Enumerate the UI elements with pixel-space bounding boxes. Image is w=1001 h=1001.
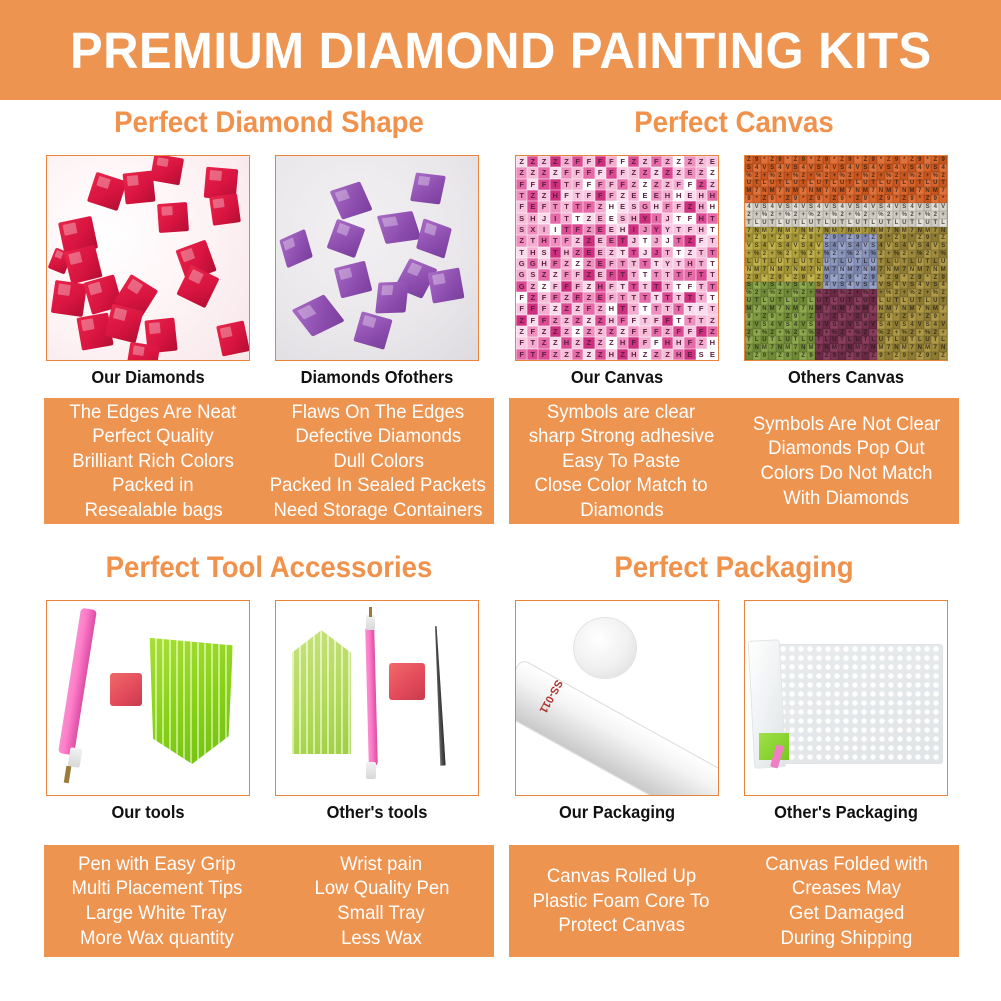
image-card-our-canvas: ZZZZZFFFFFZZFZZZZEZZZZFFFFFFZZZZZEZZFFFT… [515, 155, 719, 361]
drawback-line: Dull Colors [333, 449, 424, 474]
benefit-line: Protect Canvas [558, 913, 685, 938]
caption-other-diamonds: Diamonds Ofothers [281, 367, 473, 388]
pen-needle [64, 766, 72, 784]
image-card-other-diamonds [275, 155, 479, 361]
text-block-canvas: Symbols are clear sharp Strong adhesive … [509, 398, 959, 524]
benefit-line: Easy To Paste [562, 449, 680, 474]
drawback-line: Flaws On The Edges [292, 400, 465, 425]
tube-label: SS-011 [537, 678, 565, 715]
benefit-line: Symbols are clear [547, 400, 695, 425]
pen-needle [369, 607, 372, 617]
small-tray-pen-wax-tweezers-photo [276, 601, 478, 795]
benefit-line: Brilliant Rich Colors [72, 449, 234, 474]
drawback-line: Less Wax [341, 926, 422, 951]
purple-irregular-diamonds-photo [276, 156, 478, 360]
text-block-tool-accessories: Pen with Easy Grip Multi Placement Tips … [44, 845, 494, 957]
caption-other-tools: Other's tools [281, 802, 473, 823]
drawback-line: Colors Do Not Match [761, 461, 933, 486]
drawback-line: Canvas Folded with [765, 852, 928, 877]
caption-other-canvas: Others Canvas [750, 367, 942, 388]
benefit-line: Large White Tray [86, 901, 227, 926]
large-green-tray [148, 638, 233, 764]
pen-tip [366, 615, 375, 631]
drawback-line: Diamonds Pop Out [768, 436, 925, 461]
benefit-line: Multi Placement Tips [71, 876, 242, 901]
drawback-line: Wrist pain [340, 852, 422, 877]
drawback-line: Get Damaged [789, 901, 904, 926]
section-heading-diamond-shape: Perfect Diamond Shape [62, 106, 476, 140]
section-heading-canvas: Perfect Canvas [527, 106, 941, 140]
tray-grooves [292, 630, 351, 754]
pen-cap [366, 762, 376, 779]
page-title: PREMIUM DIAMOND PAINTING KITS [70, 21, 932, 80]
rolled-canvas-tube-photo: SS-011 [516, 601, 718, 795]
section-heading-packaging: Perfect Packaging [527, 551, 941, 585]
image-card-other-canvas: Z9*Z9*Z9*Z9*Z9*Z9*Z9*Z9*Z9S4VS4VS4VS4VS4… [744, 155, 948, 361]
our-tools-benefits: Pen with Easy Grip Multi Placement Tips … [44, 845, 269, 957]
benefit-line: The Edges Are Neat [70, 400, 237, 425]
drawback-line: Need Storage Containers [274, 498, 483, 523]
image-card-our-packaging: SS-011 [515, 600, 719, 796]
benefit-line: Perfect Quality [92, 424, 213, 449]
pink-symbol-canvas-photo: ZZZZZFFFFFZZFZZZZEZZZZFFFFFFZZZZZEZZFFFT… [516, 156, 718, 360]
pink-pen-wax-large-green-tray-photo [47, 601, 249, 795]
benefit-line: Pen with Easy Grip [78, 852, 236, 877]
infographic-page: PREMIUM DIAMOND PAINTING KITS Perfect Di… [0, 0, 1001, 1001]
canvas-symbol-grid: ZZZZZFFFFFZZFZZZZEZZZZFFFFFFZZZZZEZZFFFT… [516, 156, 718, 360]
tray-grooves [148, 638, 233, 764]
muddy-symbol-canvas-photo: Z9*Z9*Z9*Z9*Z9*Z9*Z9*Z9*Z9S4VS4VS4VS4VS4… [745, 156, 947, 360]
benefit-line: Resealable bags [84, 498, 222, 523]
benefit-line: Packed in [113, 473, 194, 498]
image-card-our-diamonds [46, 155, 250, 361]
drawback-line: Creases May [792, 876, 901, 901]
header-band: PREMIUM DIAMOND PAINTING KITS [0, 0, 1001, 100]
caption-our-diamonds: Our Diamonds [52, 367, 244, 388]
benefit-line: Diamonds [580, 498, 663, 523]
text-block-packaging: Canvas Rolled Up Plastic Foam Core To Pr… [509, 845, 959, 957]
benefit-line: More Wax quantity [80, 926, 234, 951]
image-card-our-tools [46, 600, 250, 796]
image-card-other-packaging [744, 600, 948, 796]
folded-canvas-bubble-mailer-photo [745, 601, 947, 795]
drawback-line: With Diamonds [784, 486, 910, 511]
our-diamonds-benefits: The Edges Are Neat Perfect Quality Brill… [44, 398, 262, 524]
canvas-tube: SS-011 [516, 658, 718, 795]
caption-our-tools: Our tools [52, 802, 244, 823]
our-canvas-benefits: Symbols are clear sharp Strong adhesive … [509, 398, 734, 524]
benefit-line: Close Color Match to [535, 473, 708, 498]
other-tools-drawbacks: Wrist pain Low Quality Pen Small Tray Le… [269, 845, 494, 957]
benefit-line: Canvas Rolled Up [547, 864, 696, 889]
benefit-line: sharp Strong adhesive [529, 424, 714, 449]
benefit-line: Plastic Foam Core To [533, 889, 710, 914]
text-block-diamond-shape: The Edges Are Neat Perfect Quality Brill… [44, 398, 494, 524]
caption-our-packaging: Our Packaging [521, 802, 713, 823]
drawback-line: Defective Diamonds [295, 424, 461, 449]
section-heading-tool-accessories: Perfect Tool Accessories [62, 551, 476, 585]
other-diamonds-drawbacks: Flaws On The Edges Defective Diamonds Du… [262, 398, 494, 524]
tweezers [432, 626, 445, 766]
tube-cap [573, 617, 638, 679]
caption-other-packaging: Other's Packaging [750, 802, 942, 823]
other-canvas-drawbacks: Symbols Are Not Clear Diamonds Pop Out C… [734, 398, 959, 524]
our-packaging-benefits: Canvas Rolled Up Plastic Foam Core To Pr… [509, 845, 734, 957]
image-card-other-tools [275, 600, 479, 796]
drawback-line: Small Tray [338, 901, 426, 926]
drill-pen [365, 626, 378, 766]
wax-square [110, 673, 142, 706]
red-square-diamonds-photo [47, 156, 249, 360]
drawback-line: During Shipping [781, 926, 913, 951]
small-green-tray [292, 630, 351, 754]
canvas-symbol-grid-others: Z9*Z9*Z9*Z9*Z9*Z9*Z9*Z9*Z9S4VS4VS4VS4VS4… [745, 156, 947, 360]
bubble-mailer [769, 644, 943, 764]
drawback-line: Low Quality Pen [314, 876, 449, 901]
caption-our-canvas: Our Canvas [521, 367, 713, 388]
other-packaging-drawbacks: Canvas Folded with Creases May Get Damag… [734, 845, 959, 957]
drawback-line: Symbols Are Not Clear [753, 412, 940, 437]
drill-pen [58, 607, 97, 755]
drawback-line: Packed In Sealed Packets [270, 473, 486, 498]
wax-square [389, 663, 425, 700]
